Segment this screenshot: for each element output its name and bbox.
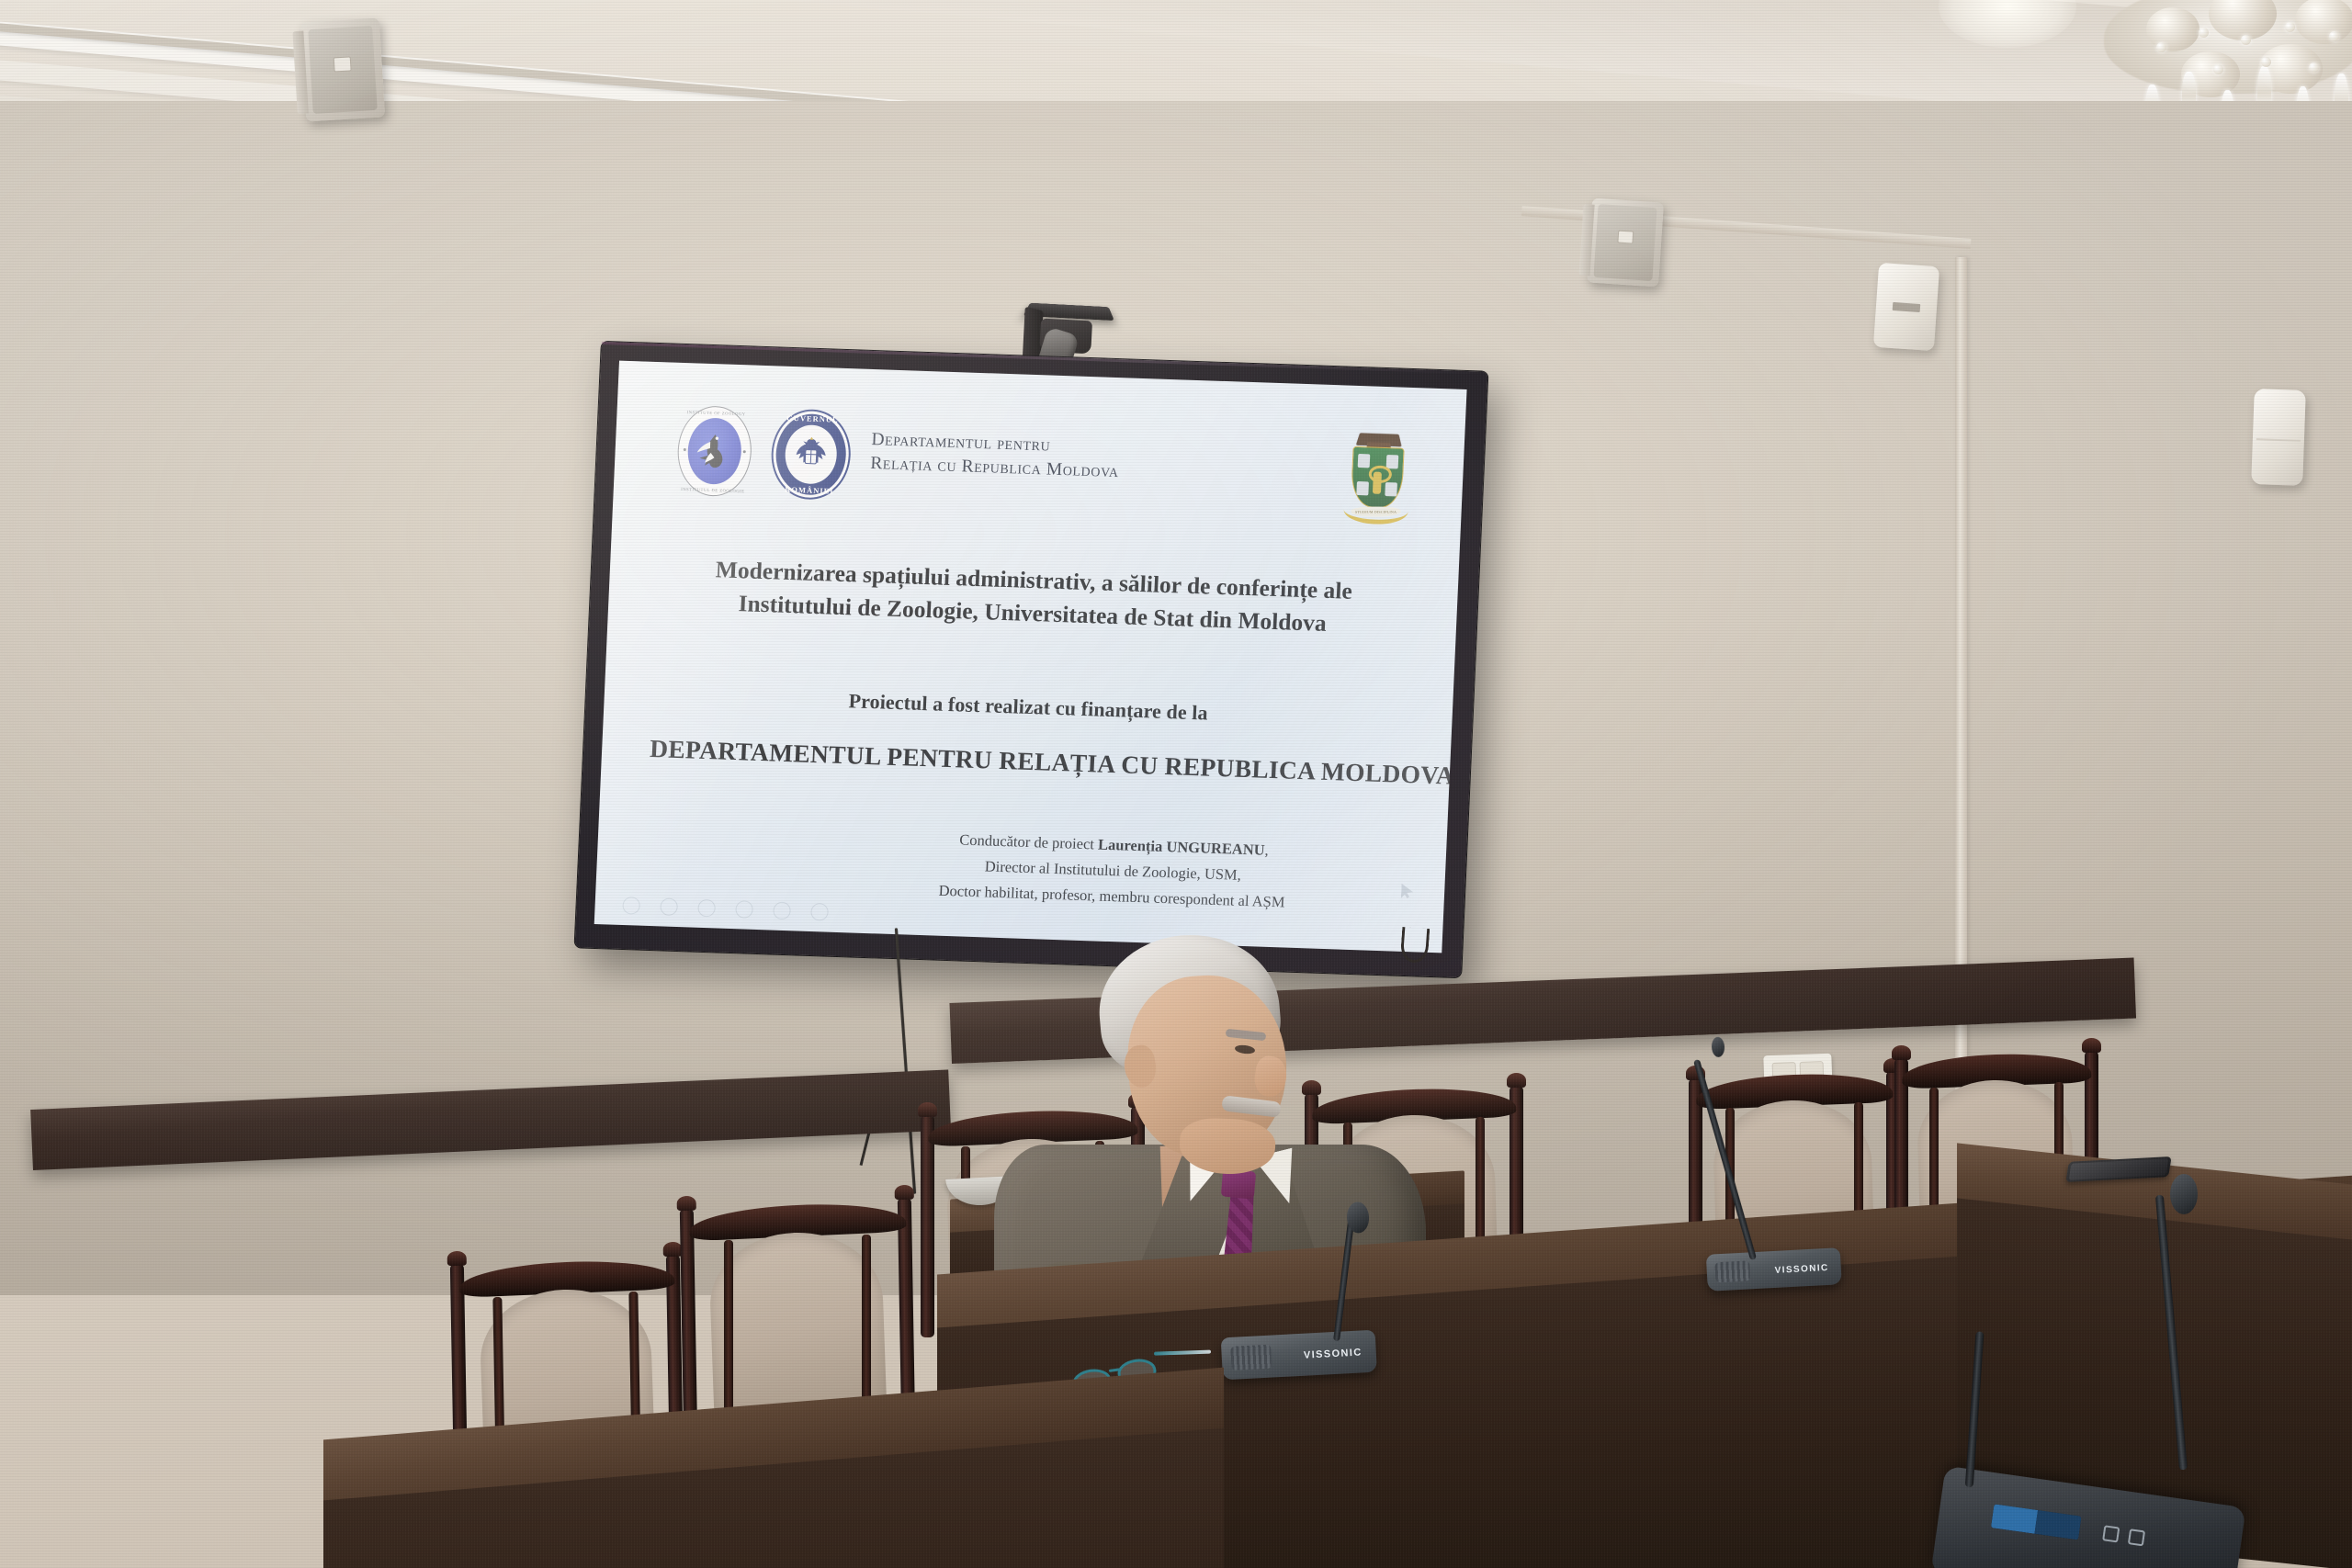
device-indicator: [1893, 302, 1920, 311]
slide-logo-row: INSTITUTE OF ZOOLOGY INSTITUTUL DE ZOOLO…: [661, 404, 1417, 525]
conference-room-photo: INSTITUTE OF ZOOLOGY INSTITUTUL DE ZOOLO…: [0, 0, 2352, 1568]
osprey-bird-icon: [692, 428, 738, 474]
presentation-display[interactable]: INSTITUTE OF ZOOLOGY INSTITUTUL DE ZOOLO…: [575, 342, 1488, 977]
delegate-unit-display: [1991, 1504, 2082, 1540]
presenter-toolbar[interactable]: [622, 897, 829, 921]
microphone-base[interactable]: VISSONIC: [1221, 1330, 1377, 1381]
funding-intro: Proiectul a fost realizat cu finanțare d…: [651, 682, 1405, 732]
chair: [682, 1187, 913, 1426]
device-seam: [2256, 438, 2300, 442]
microphone-speaker-vents: [1230, 1345, 1272, 1371]
mouse-cursor-icon: [1401, 884, 1414, 898]
slide-title: Modernizarea spațiului administrativ, a …: [656, 551, 1411, 642]
pen-tool-icon[interactable]: [697, 899, 716, 918]
credits-prefix: Conducător de proiect: [959, 831, 1099, 853]
next-slide-icon[interactable]: [660, 897, 678, 916]
slide-grid-icon[interactable]: [735, 900, 753, 919]
wifi-access-point: [1873, 263, 1939, 351]
romanian-eagle-icon: [792, 434, 831, 475]
crest-motto: STUDIUM DISCIPLINA: [1351, 507, 1400, 517]
credits-name: Laurenția UNGUREANU: [1098, 836, 1265, 859]
speaker-logo: [1617, 231, 1634, 244]
zoom-icon[interactable]: [773, 902, 791, 920]
microphone-head: [2170, 1174, 2198, 1214]
previous-slide-icon[interactable]: [622, 897, 640, 915]
microphone-unit-right[interactable]: VISSONIC: [1706, 1247, 1842, 1299]
department-label: Departamentul pentru Relația cu Republic…: [870, 412, 1121, 484]
microphone-unit-presenter[interactable]: VISSONIC: [1221, 1330, 1378, 1388]
funding-block: Proiectul a fost realizat cu finanțare d…: [650, 682, 1405, 789]
crest-ribbon: STUDIUM DISCIPLINA: [1351, 507, 1400, 517]
display-panel[interactable]: INSTITUTE OF ZOOLOGY INSTITUTUL DE ZOOLO…: [594, 361, 1467, 953]
more-options-icon[interactable]: [810, 903, 829, 921]
wall-speaker-right: [1587, 198, 1664, 288]
microphone-speaker-vents: [1714, 1260, 1750, 1282]
wall-speaker-left: [300, 17, 385, 121]
funding-source: DEPARTAMENTUL PENTRU RELAȚIA CU REPUBLIC…: [650, 734, 1403, 789]
wall-sensor-box: [2251, 389, 2306, 486]
guvernul-romaniei-seal-icon: GUVERNUL ROMÂNIEI: [770, 408, 853, 501]
credits-suffix: ,: [1264, 841, 1269, 859]
microphone-brand-label: VISSONIC: [1304, 1348, 1363, 1361]
delegate-unit-button-2[interactable]: [2128, 1529, 2145, 1546]
speaker-logo: [334, 56, 352, 72]
presentation-slide: INSTITUTE OF ZOOLOGY INSTITUTUL DE ZOOLO…: [594, 361, 1467, 953]
institute-of-zoology-seal-icon: INSTITUTE OF ZOOLOGY INSTITUTUL DE ZOOLO…: [676, 405, 753, 498]
seal-word-bottom: ROMÂNIEI: [770, 484, 849, 496]
eyeglass-temple-arm: [1154, 1350, 1211, 1356]
usm-crest-icon: STUDIUM DISCIPLINA: [1341, 428, 1414, 525]
delegate-unit-button-1[interactable]: [2102, 1525, 2120, 1542]
microphone-base[interactable]: VISSONIC: [1706, 1247, 1842, 1292]
crest-key-symbol: [1373, 471, 1382, 493]
microphone-brand-label: VISSONIC: [1774, 1263, 1828, 1276]
